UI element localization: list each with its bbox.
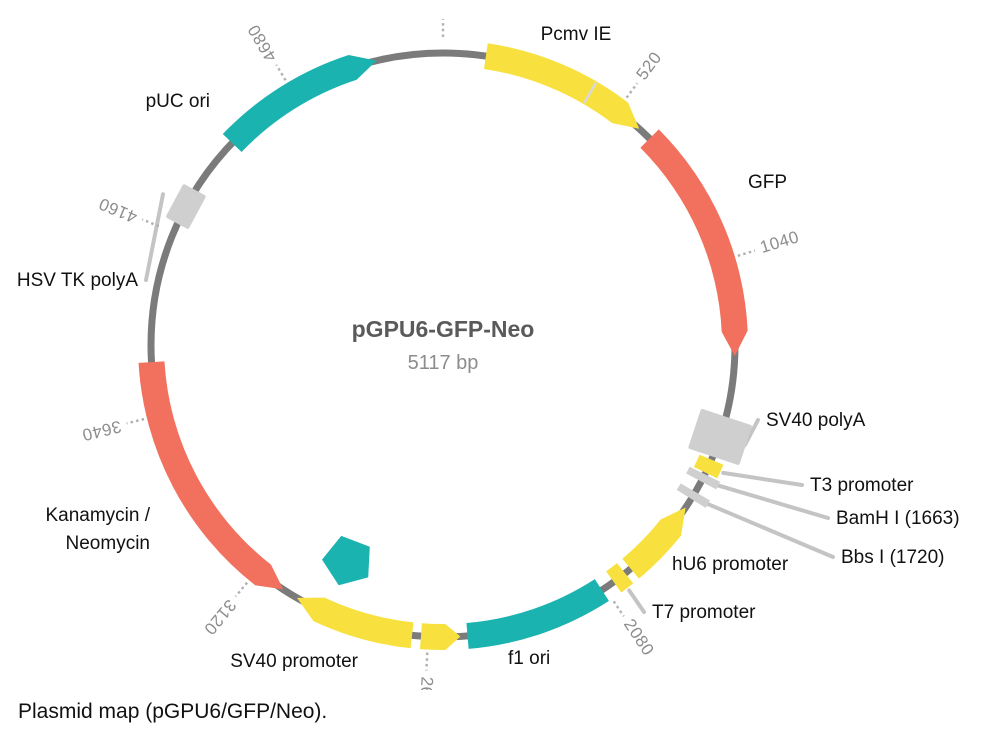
- tick-label-3120: 3120: [200, 596, 240, 639]
- feature-bbs-i-1720[interactable]: [677, 483, 710, 507]
- figure-caption: Plasmid map (pGPU6/GFP/Neo).: [18, 700, 327, 724]
- feature-labels-group: Pcmv IEGFPSV40 polyAT3 promoterBamH I (1…: [17, 24, 960, 672]
- feature-label-kanamycin-neomycin: Kanamycin /: [45, 505, 150, 526]
- feature-sv40-polya[interactable]: [688, 408, 752, 465]
- feature-pcmv-ie[interactable]: [484, 43, 639, 128]
- leader-line-bbs-i-1720: [707, 504, 833, 557]
- feature-label-kanamycin-neomycin-line2: Neomycin: [66, 533, 150, 554]
- feature-puc-ori[interactable]: [223, 55, 377, 152]
- tick-label-4680: 4680: [244, 21, 281, 65]
- tick-mark-4680: [276, 65, 285, 80]
- feature-sv40-promoter[interactable]: [297, 598, 413, 649]
- leader-line-t7-promoter: [629, 590, 644, 612]
- feature-label-hsv-tk-polya: HSV TK polyA: [17, 270, 138, 291]
- tick-label-2600: 2600: [416, 676, 437, 690]
- tick-mark-1040: [738, 251, 755, 256]
- feature-label-gfp: GFP: [748, 172, 787, 193]
- tick-mark-3120: [236, 583, 247, 597]
- tick-mark-2080: [614, 601, 624, 616]
- decorations-group: [322, 536, 370, 585]
- feature-label-t7-promoter: T7 promoter: [652, 602, 756, 623]
- teal-pentagon[interactable]: [322, 536, 370, 585]
- tick-mark-520: [627, 83, 638, 97]
- feature-unlabeled-reverse-arrow[interactable]: [420, 623, 460, 650]
- center-text-group: pGPU6-GFP-Neo 5117 bp: [352, 316, 535, 374]
- plasmid-map-figure: 5201040208026003120364041604680 Pcmv IEG…: [0, 0, 982, 744]
- tick-label-3640: 3640: [80, 417, 123, 445]
- feature-hsv-tk-polya[interactable]: [165, 184, 206, 230]
- feature-kanamycin-neomycin[interactable]: [139, 361, 284, 589]
- tick-label-520: 520: [632, 48, 665, 83]
- feature-f1-ori[interactable]: [466, 579, 609, 649]
- feature-label-sv40-polya: SV40 polyA: [766, 410, 866, 431]
- leader-line-t3-promoter: [723, 473, 802, 485]
- tick-mark-3640: [127, 419, 144, 423]
- feature-label-hu6-promoter: hU6 promoter: [672, 554, 789, 575]
- tick-label-1040: 1040: [758, 227, 802, 257]
- feature-label-f1-ori: f1 ori: [508, 648, 550, 669]
- feature-label-t3-promoter: T3 promoter: [810, 475, 914, 496]
- features-group: [139, 43, 753, 650]
- feature-gfp[interactable]: [640, 129, 747, 356]
- feature-label-puc-ori: pUC ori: [146, 91, 210, 112]
- tick-mark-2600: [426, 653, 427, 671]
- tick-label-4160: 4160: [96, 194, 140, 227]
- feature-label-bbs-i-1720: Bbs I (1720): [841, 547, 945, 568]
- feature-label-sv40-promoter: SV40 promoter: [230, 651, 358, 672]
- plasmid-size: 5117 bp: [408, 352, 479, 374]
- feature-label-pcmv-ie: Pcmv IE: [541, 24, 612, 45]
- plasmid-map-canvas: 5201040208026003120364041604680 Pcmv IEG…: [0, 0, 982, 690]
- feature-label-bamh-i-1663: BamH I (1663): [836, 508, 960, 529]
- plasmid-name: pGPU6-GFP-Neo: [352, 316, 535, 342]
